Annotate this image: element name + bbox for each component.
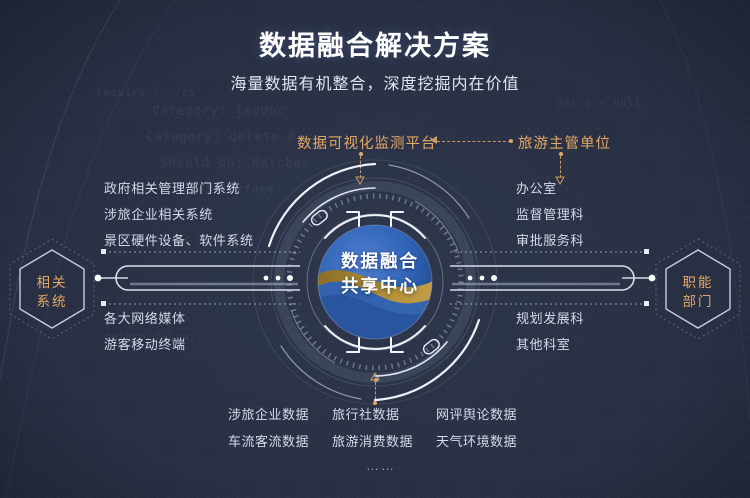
list-item: 涉旅企业数据 bbox=[228, 404, 332, 423]
list-item: 涉旅企业相关系统 bbox=[104, 202, 254, 228]
list-item: 其他科室 bbox=[516, 332, 584, 358]
hexagon-shape bbox=[652, 236, 744, 342]
bottom-data-source-grid: 涉旅企业数据 旅行社数据 网评舆论数据 车流客流数据 旅游消费数据 天气环境数据 bbox=[228, 404, 534, 450]
list-item: 网评舆论数据 bbox=[436, 404, 534, 423]
list-item: 游客移动终端 bbox=[104, 332, 186, 358]
list-item: 旅行社数据 bbox=[332, 404, 436, 423]
left-bottom-source-list: 各大网络媒体 游客移动终端 bbox=[104, 306, 186, 358]
data-fusion-center-graphic bbox=[243, 150, 507, 414]
hexagon-related-systems[interactable]: 相关 系统 bbox=[6, 236, 98, 347]
list-item: 各大网络媒体 bbox=[104, 306, 186, 332]
list-item: 审批服务科 bbox=[516, 228, 584, 254]
list-item: 监督管理科 bbox=[516, 202, 584, 228]
right-top-department-list: 办公室 监督管理科 审批服务科 bbox=[516, 176, 584, 254]
right-bottom-department-list: 规划发展科 其他科室 bbox=[516, 306, 584, 358]
list-item: 天气环境数据 bbox=[436, 431, 534, 450]
hexagon-functional-departments[interactable]: 职能 部门 bbox=[652, 236, 744, 347]
bottom-ellipsis: …… bbox=[228, 458, 534, 473]
list-item: 旅游消费数据 bbox=[332, 431, 436, 450]
list-item: 景区硬件设备、软件系统 bbox=[104, 228, 254, 254]
list-item: 车流客流数据 bbox=[228, 431, 332, 450]
infographic-canvas: Category: javdoc Category: delete # Shou… bbox=[0, 0, 750, 498]
list-item: 办公室 bbox=[516, 176, 584, 202]
left-top-source-list: 政府相关管理部门系统 涉旅企业相关系统 景区硬件设备、软件系统 bbox=[104, 176, 254, 254]
hexagon-shape bbox=[6, 236, 98, 342]
list-item: 政府相关管理部门系统 bbox=[104, 176, 254, 202]
list-item: 规划发展科 bbox=[516, 306, 584, 332]
